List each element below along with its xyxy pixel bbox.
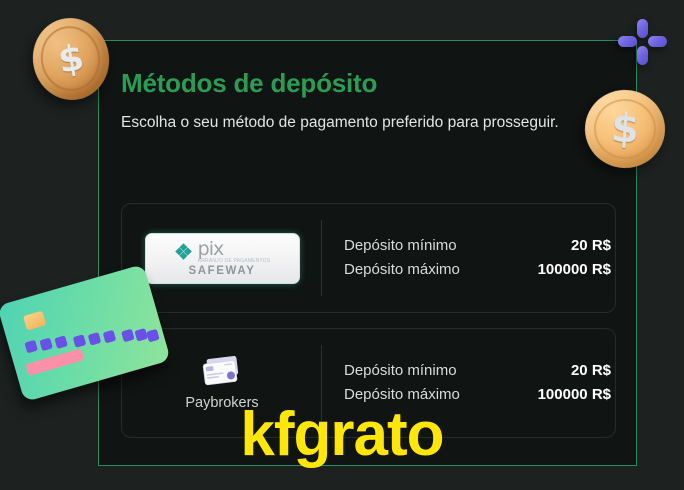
deposit-method-pix[interactable]: pix ARRANJO DE PAGAMENTOS SAFEWAY Depósi…	[121, 203, 616, 313]
card-chip	[23, 311, 46, 331]
min-deposit-label: Depósito mínimo	[344, 359, 457, 383]
pix-wordmark: pix	[198, 240, 224, 259]
page-subtitle: Escolha o seu método de pagamento prefer…	[121, 112, 571, 134]
max-deposit-row: Depósito máximo 100000 R$	[344, 258, 611, 282]
plus-icon-arm-left	[618, 36, 637, 47]
pix-logo-row: pix ARRANJO DE PAGAMENTOS	[174, 240, 271, 264]
plus-icon-arm-right	[648, 36, 667, 47]
pix-sublabel: ARRANJO DE PAGAMENTOS	[198, 258, 271, 264]
plus-icon-arm-top	[637, 19, 648, 38]
plus-icon	[617, 18, 667, 66]
credit-cards-icon	[201, 355, 243, 389]
min-deposit-label: Depósito mínimo	[344, 234, 457, 258]
page-title: Métodos de depósito	[121, 69, 614, 98]
min-deposit-row: Depósito mínimo 20 R$	[344, 359, 611, 383]
max-deposit-label: Depósito máximo	[344, 258, 460, 282]
watermark-text: kfgrato	[0, 404, 684, 466]
max-deposit-value: 100000 R$	[538, 258, 611, 282]
min-deposit-value: 20 R$	[571, 234, 611, 258]
min-deposit-value: 20 R$	[571, 359, 611, 383]
pix-logo-tile[interactable]: pix ARRANJO DE PAGAMENTOS SAFEWAY	[145, 233, 300, 284]
pix-diamond-icon	[174, 242, 193, 261]
min-deposit-row: Depósito mínimo 20 R$	[344, 234, 611, 258]
card-stripe	[25, 348, 84, 376]
plus-icon-arm-bottom	[637, 46, 648, 65]
method-limits-area: Depósito mínimo 20 R$ Depósito máximo 10…	[322, 234, 615, 283]
screen: Métodos de depósito Escolha o seu método…	[0, 0, 684, 490]
safeway-brand-label: SAFEWAY	[188, 265, 255, 277]
